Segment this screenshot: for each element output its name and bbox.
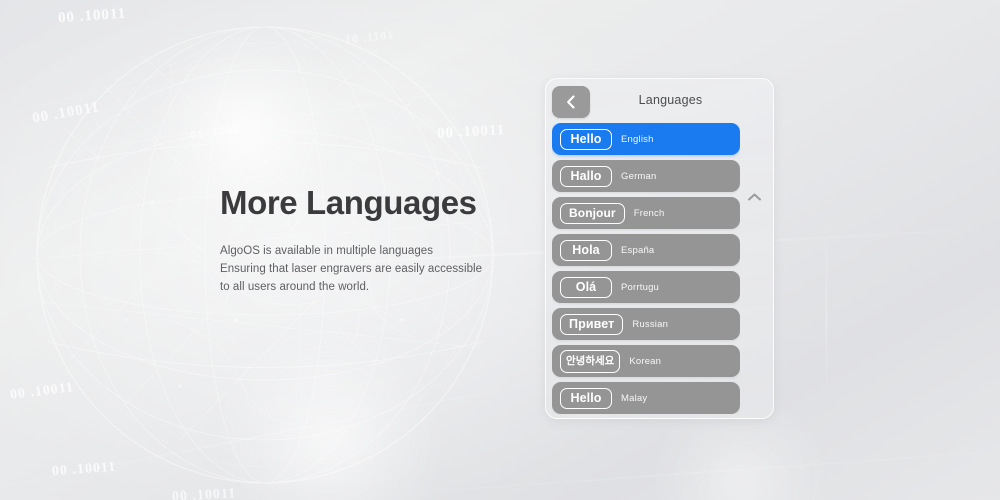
languages-panel: Languages HelloEnglishHalloGermanBonjour…: [545, 78, 774, 419]
language-greeting-chip: Hello: [560, 129, 612, 150]
language-name-label: Russian: [632, 319, 668, 330]
panel-header: Languages: [546, 79, 773, 123]
language-name-label: España: [621, 245, 654, 256]
language-name-label: Malay: [621, 393, 647, 404]
language-greeting-chip: Привет: [560, 314, 623, 335]
language-list[interactable]: HelloEnglishHalloGermanBonjourFrenchHola…: [552, 123, 740, 414]
language-greeting-chip: 안녕하세요: [560, 350, 620, 373]
page-title: More Languages: [220, 185, 530, 222]
binary-code-text: 00 .10011: [57, 6, 126, 28]
language-name-label: German: [621, 171, 657, 182]
app-background: 00 .10011 00 .10011 01 .1001 00 .10011 0…: [0, 0, 1000, 500]
chevron-up-icon: [747, 192, 762, 202]
scroll-down-button[interactable]: [738, 411, 770, 419]
binary-code-text: 00 .10011: [9, 380, 75, 404]
hero-description: AlgoOS is available in multiple language…: [220, 242, 530, 296]
language-greeting-chip: Hola: [560, 240, 612, 261]
hero-description-line: to all users around the world.: [220, 278, 530, 296]
binary-code-text: 00 .10011: [52, 460, 117, 480]
language-name-label: Porrtugu: [621, 282, 659, 293]
language-row[interactable]: HolaEspaña: [552, 234, 740, 266]
binary-code-text: 00 .10011: [172, 486, 237, 500]
hero-description-line: AlgoOS is available in multiple language…: [220, 242, 530, 260]
chevron-down-icon: [747, 418, 762, 419]
language-name-label: English: [621, 134, 654, 145]
language-greeting-chip: Bonjour: [560, 203, 625, 224]
language-name-label: Korean: [629, 356, 661, 367]
language-row[interactable]: HalloGerman: [552, 160, 740, 192]
binary-code-text: 00 .10011: [437, 122, 506, 143]
language-row[interactable]: HelloMalay: [552, 382, 740, 414]
language-row[interactable]: OláPorrtugu: [552, 271, 740, 303]
binary-code-text: 00 .10011: [31, 99, 101, 128]
language-greeting-chip: Hello: [560, 388, 612, 409]
language-row[interactable]: HelloEnglish: [552, 123, 740, 155]
language-greeting-chip: Olá: [560, 277, 612, 298]
language-row[interactable]: ПриветRussian: [552, 308, 740, 340]
binary-code-text: 01 .1001: [189, 122, 241, 144]
language-name-label: French: [634, 208, 665, 219]
hero-text-block: More Languages AlgoOS is available in mu…: [220, 185, 530, 296]
language-row[interactable]: BonjourFrench: [552, 197, 740, 229]
panel-title: Languages: [546, 93, 773, 107]
language-greeting-chip: Hallo: [560, 166, 612, 187]
language-row[interactable]: 안녕하세요Korean: [552, 345, 740, 377]
scroll-up-button[interactable]: [738, 185, 770, 209]
scroll-controls: [738, 123, 770, 414]
binary-code-text: 10 .1101: [344, 27, 395, 47]
hero-description-line: Ensuring that laser engravers are easily…: [220, 260, 530, 278]
